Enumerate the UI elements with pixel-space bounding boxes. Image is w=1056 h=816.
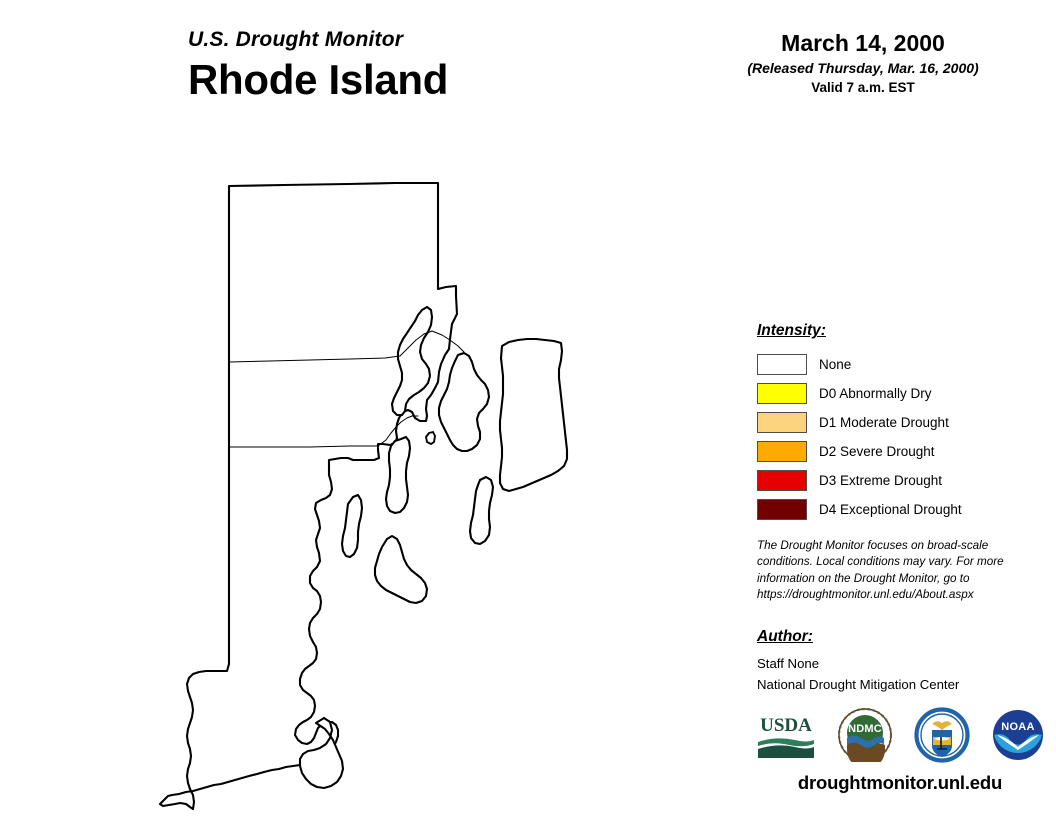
legend-item-d2[interactable]: D2 Severe Drought — [757, 437, 1047, 466]
legend-label-d4: D4 Exceptional Drought — [819, 503, 962, 517]
map-svg — [150, 150, 710, 810]
legend-swatch-d2 — [757, 441, 807, 462]
island-islet-small — [426, 432, 435, 444]
legend-swatch-d1 — [757, 412, 807, 433]
author-heading: Author: — [757, 628, 1037, 646]
legend-swatch-d4 — [757, 499, 807, 520]
legend-swatch-none — [757, 354, 807, 375]
ndmc-logo[interactable]: NDMC — [838, 708, 892, 762]
map-date: March 14, 2000 — [668, 30, 1056, 56]
legend-label-none: None — [819, 358, 851, 372]
release-date: (Released Thursday, Mar. 16, 2000) — [668, 60, 1056, 76]
date-block: March 14, 2000 (Released Thursday, Mar. … — [668, 30, 1056, 95]
usdc-noaa-seal[interactable] — [914, 707, 970, 763]
legend-label-d0: D0 Abnormally Dry — [819, 387, 932, 401]
legend: Intensity: None D0 Abnormally Dry D1 Mod… — [757, 322, 1047, 524]
drought-monitor-page: U.S. Drought Monitor Rhode Island March … — [0, 0, 1056, 816]
noaa-logo[interactable]: NOAA — [991, 708, 1045, 762]
seal-shield-chief — [932, 730, 952, 735]
state-outline-mainland — [160, 183, 457, 809]
coastline-sakonnet-strip — [500, 339, 567, 491]
legend-title: Intensity: — [757, 322, 1047, 340]
usda-logo-text: USDA — [760, 715, 812, 736]
legend-swatch-d3 — [757, 470, 807, 491]
title-block: U.S. Drought Monitor Rhode Island — [188, 28, 608, 103]
legend-swatch-d0 — [757, 383, 807, 404]
site-url[interactable]: droughtmonitor.unl.edu — [755, 772, 1045, 794]
author-block: Author: Staff None National Drought Miti… — [757, 628, 1037, 694]
island-aquidneck — [439, 353, 489, 451]
usda-logo[interactable]: USDA — [755, 709, 817, 761]
disclaimer-text: The Drought Monitor focuses on broad-sca… — [757, 538, 1025, 604]
legend-label-d2: D2 Severe Drought — [819, 445, 935, 459]
coastline-warren-strip — [470, 477, 493, 544]
legend-item-d1[interactable]: D1 Moderate Drought — [757, 408, 1047, 437]
coastline-point-judith — [375, 536, 427, 603]
author-organization: National Drought Mitigation Center — [757, 676, 1037, 695]
legend-item-d3[interactable]: D3 Extreme Drought — [757, 466, 1047, 495]
valid-time: Valid 7 a.m. EST — [668, 80, 1056, 95]
logo-row: USDA NDMC — [755, 706, 1045, 764]
legend-item-d0[interactable]: D0 Abnormally Dry — [757, 379, 1047, 408]
island-conanicut — [386, 437, 410, 513]
island-narrow-west — [342, 495, 362, 557]
rhode-island-map — [150, 150, 710, 810]
ndmc-logo-text: NDMC — [848, 723, 882, 735]
legend-label-d3: D3 Extreme Drought — [819, 474, 942, 488]
legend-item-d4[interactable]: D4 Exceptional Drought — [757, 495, 1047, 524]
program-title: U.S. Drought Monitor — [188, 28, 608, 51]
legend-item-none[interactable]: None — [757, 350, 1047, 379]
legend-label-d1: D1 Moderate Drought — [819, 416, 949, 430]
noaa-logo-text: NOAA — [1001, 721, 1035, 733]
author-name: Staff None — [757, 655, 1037, 674]
page-title: Rhode Island — [188, 56, 608, 103]
